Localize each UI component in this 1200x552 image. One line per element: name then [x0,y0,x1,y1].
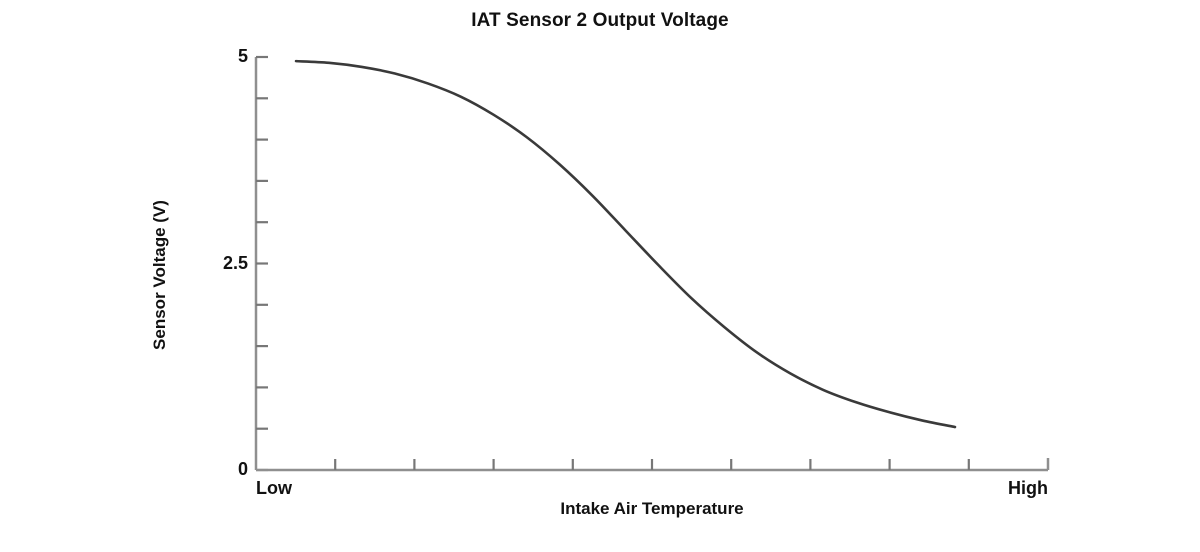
x-axis-ticks [335,459,969,470]
plot-area [0,0,1200,552]
data-series-line [296,61,955,427]
y-axis [256,57,268,470]
y-axis-ticks [256,57,268,470]
chart-container: IAT Sensor 2 Output Voltage Sensor Volta… [0,0,1200,552]
x-axis [256,458,1048,470]
